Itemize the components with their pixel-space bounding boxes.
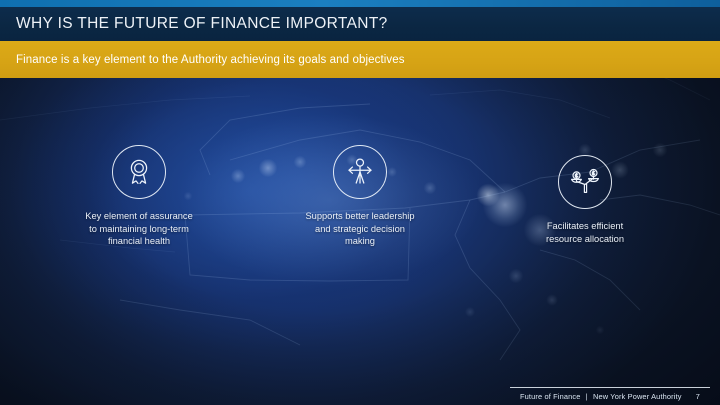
pillar-item: Supports better leadership and strategic… — [265, 145, 455, 248]
footer-page-number: 7 — [696, 392, 700, 401]
award-ribbon-icon — [123, 156, 155, 188]
pillar-label: Key element of assurance to maintaining … — [44, 210, 234, 248]
presentation-slide: WHY IS THE FUTURE OF FINANCE IMPORTANT? … — [0, 0, 720, 405]
pillar-item: Key element of assurance to maintaining … — [44, 145, 234, 248]
footer-text: Future of Finance | New York Power Autho… — [520, 392, 682, 401]
slide-footer: Future of Finance | New York Power Autho… — [510, 387, 710, 401]
subtitle-band: Finance is a key element to the Authorit… — [0, 41, 720, 78]
pillar-icon-circle — [112, 145, 166, 199]
pillar-icon-circle — [333, 145, 387, 199]
pillar-label: Facilitates efficient resource allocatio… — [490, 220, 680, 245]
footer-row: Future of Finance | New York Power Autho… — [510, 392, 710, 401]
person-direction-arrows-icon — [343, 155, 377, 189]
footer-separator: | — [583, 392, 591, 401]
title-band: WHY IS THE FUTURE OF FINANCE IMPORTANT? — [0, 7, 720, 41]
pillars-group: Key element of assurance to maintaining … — [0, 78, 720, 375]
footer-organization: New York Power Authority — [593, 392, 682, 401]
slide-subtitle: Finance is a key element to the Authorit… — [0, 54, 405, 66]
footer-divider — [510, 387, 710, 388]
pillar-item: Facilitates efficient resource allocatio… — [490, 155, 680, 245]
slide-title: WHY IS THE FUTURE OF FINANCE IMPORTANT? — [0, 15, 388, 33]
footer-deck-name: Future of Finance — [520, 392, 580, 401]
top-accent-strip — [0, 0, 720, 7]
pillar-icon-circle — [558, 155, 612, 209]
pillar-label: Supports better leadership and strategic… — [265, 210, 455, 248]
balance-scale-dollar-icon — [568, 165, 602, 199]
